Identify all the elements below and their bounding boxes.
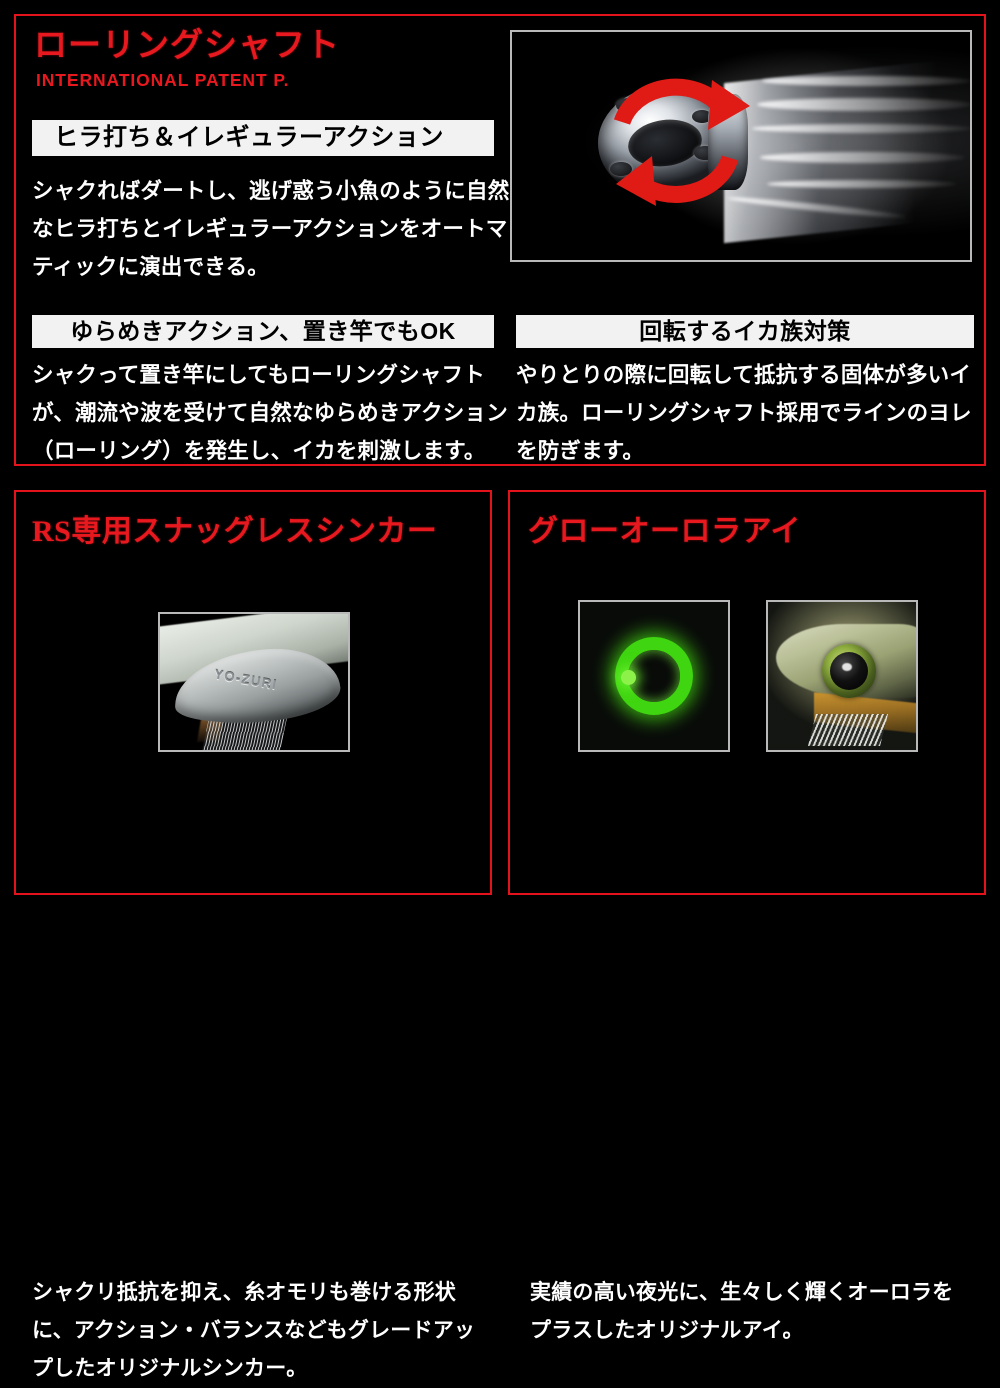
panel-rolling-shaft: ローリングシャフト INTERNATIONAL PATENT P. (14, 14, 986, 466)
section-body-kaiten: やりとりの際に回転して抵抗する固体が多いイカ族。ローリングシャフト採用でラインの… (516, 356, 986, 470)
section-heading-yurameki: ゆらめきアクション、置き竿でもOK (32, 315, 494, 348)
section-body-hira-uchi: シャクればダートし、逃げ惑う小魚のように自然なヒラ打ちとイレギュラーアクションを… (32, 172, 510, 286)
section-body-glow-aurora-eye: 実績の高い夜光に、生々しく輝くオーロラをプラスしたオリジナルアイ。 (530, 1274, 970, 1350)
page-title: ローリングシャフト (34, 28, 340, 63)
panel-snagless-sinker: RS専用スナッグレスシンカー YO-ZURI シャクリ抵抗を抑え、糸オモリも巻け… (14, 490, 492, 895)
glow-eye-photo (578, 600, 730, 752)
sinker-scene: YO-ZURI (160, 614, 348, 750)
fish-eye-iris (822, 644, 876, 698)
panel-glow-aurora-eye: グローオーロラアイ 実績の高い夜光に、生々しく輝くオーロラをプラスしたオリジナル… (508, 490, 986, 895)
rolling-shaft-photo (510, 30, 972, 262)
fish-eye-photo (766, 600, 918, 752)
heading-snagless-sinker: RS専用スナッグレスシンカー (32, 506, 437, 550)
snagless-sinker-photo: YO-ZURI (158, 612, 350, 752)
heading-glow-aurora-eye: グローオーロラアイ (528, 506, 801, 550)
product-feature-page: ローリングシャフト INTERNATIONAL PATENT P. (0, 0, 1000, 909)
motion-streak (760, 152, 965, 163)
glow-pupil-dot (621, 670, 636, 685)
section-heading-kaiten: 回転するイカ族対策 (516, 315, 974, 348)
fish-fin (808, 714, 888, 746)
glow-scene (580, 602, 728, 750)
section-body-yurameki: シャクって置き竿にしてもローリングシャフトが、潮流や波を受けて自然なゆらめきアク… (32, 356, 510, 470)
section-body-snagless-sinker: シャクリ抵抗を抑え、糸オモリも巻ける形状に、アクション・バランスなどもグレードア… (32, 1274, 482, 1388)
rotation-arrows-icon (604, 70, 764, 215)
section-heading-hira-uchi: ヒラ打ち＆イレギュラーアクション (32, 120, 494, 156)
motion-streak (752, 124, 972, 133)
fish-scene (768, 602, 916, 750)
fish-eye-pupil (830, 652, 868, 690)
fish-eye-highlight (842, 663, 852, 671)
shaft-scene (512, 32, 970, 260)
motion-streak (762, 76, 972, 86)
motion-streak (757, 98, 972, 111)
motion-streak (767, 180, 957, 188)
page-subtitle: INTERNATIONAL PATENT P. (36, 70, 289, 91)
